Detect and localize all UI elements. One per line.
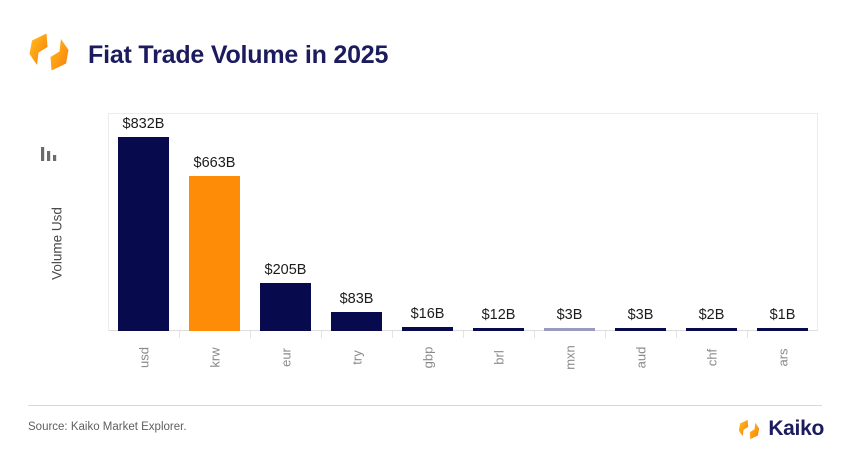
bar-series: $832B$663B$205B$83B$16B$12B$3B$3B$2B$1B: [108, 113, 818, 331]
x-axis-separator: [179, 331, 180, 338]
bar-mxn[interactable]: $3B: [544, 113, 595, 331]
brand-wordmark: Kaiko: [768, 417, 824, 441]
footer-divider: [28, 405, 822, 406]
bar-value-label-try: $83B: [309, 291, 404, 307]
x-axis-separator: [676, 331, 677, 338]
bar-chart-icon: [40, 146, 58, 162]
x-tick-label-mxn: mxn: [562, 320, 577, 396]
x-tick-usd: usd: [114, 332, 174, 376]
x-axis-separator: [605, 331, 606, 338]
x-axis-tick-labels: usdkrweurtrygbpbrlmxnaudchfars: [108, 332, 818, 380]
x-tick-label-brl: brl: [491, 320, 506, 396]
x-tick-label-ars: ars: [775, 320, 790, 396]
x-tick-chf: chf: [682, 332, 742, 376]
x-axis-separator: [250, 331, 251, 338]
x-tick-label-eur: eur: [278, 320, 293, 396]
bar-value-label-eur: $205B: [238, 262, 333, 278]
bar-krw[interactable]: $663B: [189, 113, 240, 331]
bar-ars[interactable]: $1B: [757, 113, 808, 331]
bar-chf[interactable]: $2B: [686, 113, 737, 331]
footer-brand: Kaiko: [737, 415, 824, 443]
bar-rect-krw: [189, 176, 240, 331]
page-title: Fiat Trade Volume in 2025: [88, 41, 388, 70]
bar-eur[interactable]: $205B: [260, 113, 311, 331]
kaiko-logo-icon: [737, 418, 761, 441]
x-tick-label-krw: krw: [207, 320, 222, 396]
bar-brl[interactable]: $12B: [473, 113, 524, 331]
x-axis-separator: [321, 331, 322, 338]
y-axis-block: Volume Usd: [34, 140, 68, 320]
x-axis-separator: [463, 331, 464, 338]
bar-usd[interactable]: $832B: [118, 113, 169, 331]
x-tick-gbp: gbp: [398, 332, 458, 376]
x-tick-label-chf: chf: [704, 320, 719, 396]
x-tick-label-gbp: gbp: [420, 320, 435, 396]
x-tick-ars: ars: [753, 332, 813, 376]
x-axis-separator: [534, 331, 535, 338]
bar-try[interactable]: $83B: [331, 113, 382, 331]
x-tick-aud: aud: [611, 332, 671, 376]
x-axis-separator: [747, 331, 748, 338]
page-header: Fiat Trade Volume in 2025: [0, 0, 850, 100]
kaiko-logo-icon: [26, 30, 72, 74]
bar-value-label-usd: $832B: [96, 116, 191, 132]
bar-rect-usd: [118, 137, 169, 331]
x-tick-label-usd: usd: [136, 320, 151, 396]
x-tick-label-try: try: [349, 320, 364, 396]
x-tick-eur: eur: [256, 332, 316, 376]
bar-value-label-krw: $663B: [167, 155, 262, 171]
bar-gbp[interactable]: $16B: [402, 113, 453, 331]
x-axis-separator: [392, 331, 393, 338]
x-tick-mxn: mxn: [540, 332, 600, 376]
x-tick-brl: brl: [469, 332, 529, 376]
x-tick-label-aud: aud: [633, 320, 648, 396]
x-tick-krw: krw: [185, 332, 245, 376]
bar-aud[interactable]: $3B: [615, 113, 666, 331]
y-axis-label: Volume Usd: [50, 169, 65, 319]
x-tick-try: try: [327, 332, 387, 376]
source-note: Source: Kaiko Market Explorer.: [28, 421, 187, 433]
